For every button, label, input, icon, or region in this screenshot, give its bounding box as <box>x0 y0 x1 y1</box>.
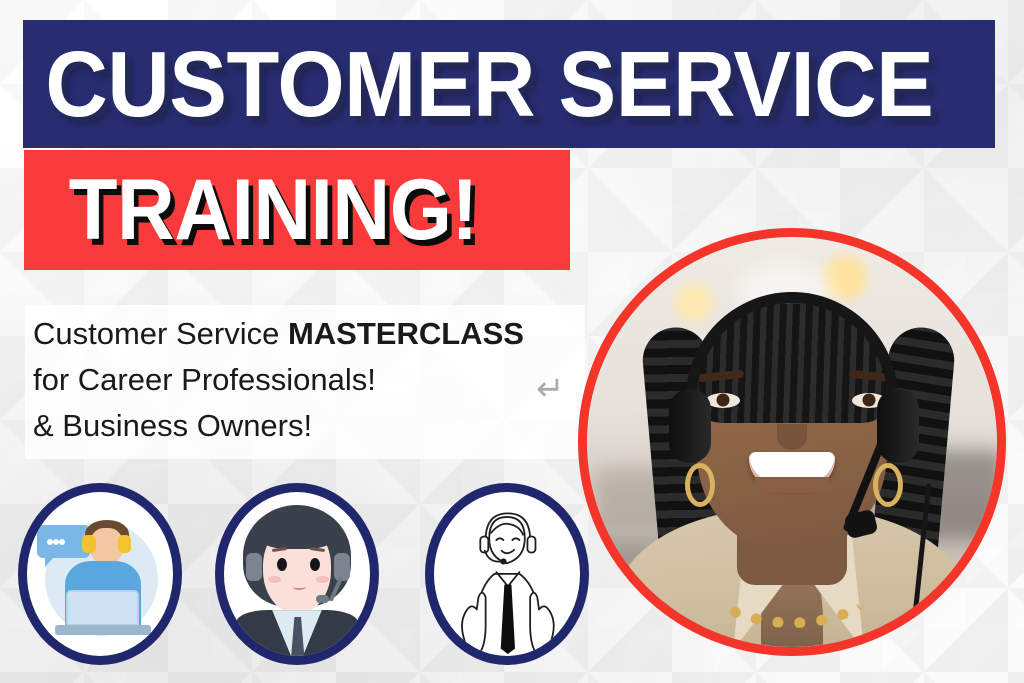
lower-lip <box>755 477 829 493</box>
support-agent-laptop-icon <box>27 492 173 656</box>
badge-call-center-operator: Anime-style call center operator wearing… <box>215 483 379 665</box>
badge-thumbs-up-agent: Black and white line drawing of a headse… <box>425 483 589 665</box>
call-center-operator-icon <box>224 492 370 656</box>
headline-primary-text: CUSTOMER SERVICE <box>23 38 933 131</box>
headset-earcup-right <box>877 389 919 463</box>
subtitle-block: Customer Service MASTERCLASS for Career … <box>25 305 585 459</box>
headline-secondary-text: TRAINING! <box>24 167 478 253</box>
headline-primary-bar: CUSTOMER SERVICE <box>23 20 995 148</box>
subtitle-line-2: for Career Professionals! <box>33 357 585 403</box>
subtitle-line-1: Customer Service MASTERCLASS <box>33 311 585 357</box>
gold-chain-necklace <box>703 536 881 628</box>
hero-photo-image <box>587 237 997 647</box>
subtitle-line-1-bold: MASTERCLASS <box>288 316 524 351</box>
customer-service-training-banner: CUSTOMER SERVICE TRAINING! Customer Serv… <box>0 0 1024 683</box>
headline-secondary-bar: TRAINING! <box>24 150 570 270</box>
nose <box>777 424 807 450</box>
thumbs-up-agent-icon <box>434 492 580 654</box>
headset-earcup-left <box>669 389 711 463</box>
hoop-earring-left <box>685 463 715 507</box>
subtitle-line-1-plain: Customer Service <box>33 316 288 351</box>
hero-photo-circle: Smiling woman with long braided hair wea… <box>578 228 1006 656</box>
subtitle-line-3: & Business Owners! <box>33 403 585 449</box>
hoop-earring-right <box>873 463 903 507</box>
badge-support-agent-laptop: Flat illustration of a smiling agent wit… <box>18 483 182 665</box>
return-arrow-icon: ↵ <box>536 372 565 406</box>
